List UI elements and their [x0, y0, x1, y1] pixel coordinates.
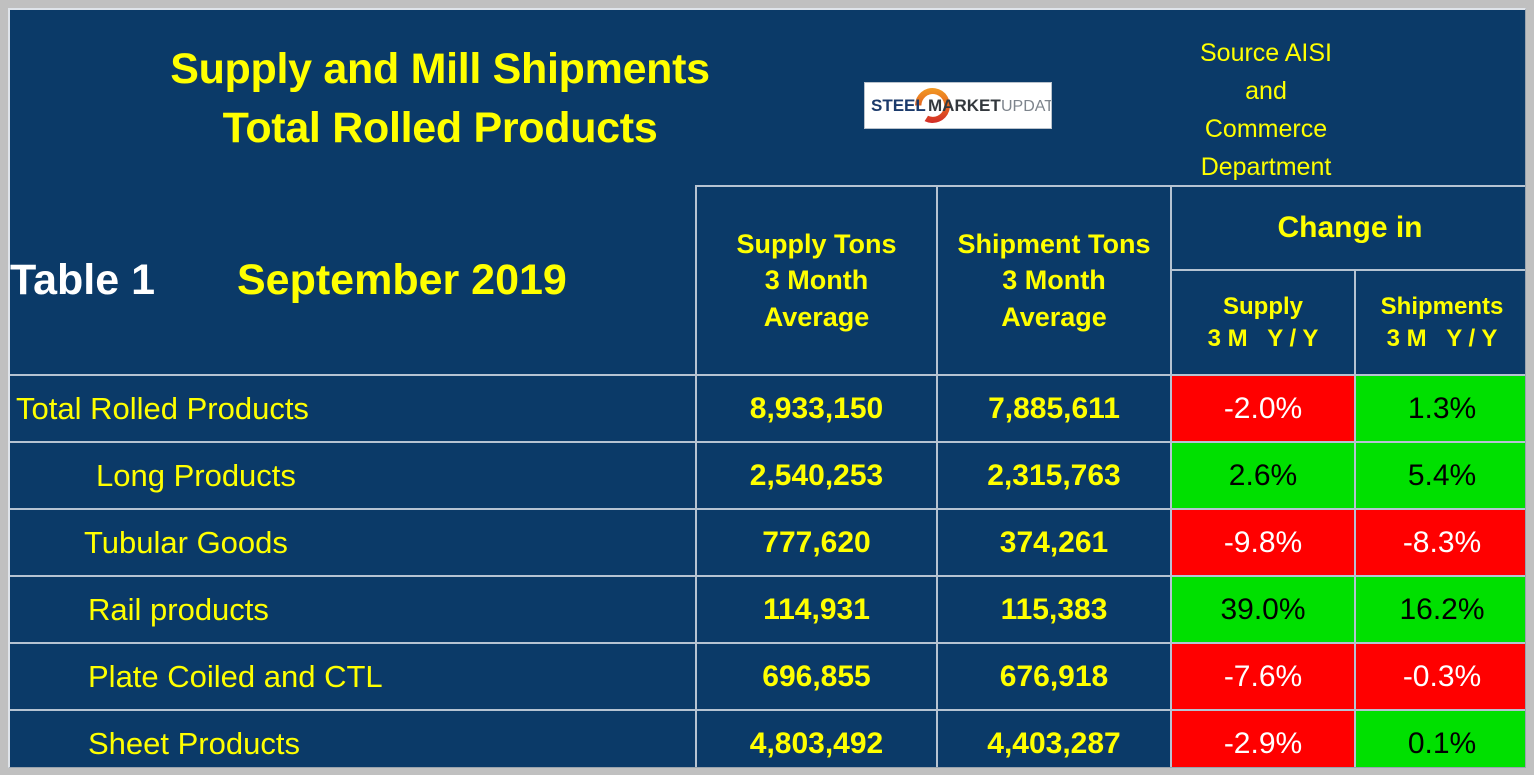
table-row: Long Products2,540,2532,315,7632.6%5.4%	[10, 442, 1526, 509]
cell-supply-tons: 777,620	[696, 509, 937, 576]
table-row: Rail products114,931115,38339.0%16.2%	[10, 576, 1526, 643]
column-header-change-supply: Supply 3 M Y / Y	[1171, 270, 1355, 375]
column-header-supply-tons-line-2: 3 Month	[697, 262, 936, 298]
slide-header-band: Supply and Mill Shipments Total Rolled P…	[10, 10, 1525, 185]
source-note-line-1: Source AISI	[1176, 34, 1356, 72]
logo-word-market: MARKET	[928, 96, 1001, 115]
slide-canvas: Supply and Mill Shipments Total Rolled P…	[8, 8, 1526, 768]
cell-change-shipments: 5.4%	[1355, 442, 1526, 509]
column-header-change-supply-line-2: 3 M Y / Y	[1172, 323, 1354, 354]
cell-change-shipments: 1.3%	[1355, 375, 1526, 442]
cell-shipment-tons: 374,261	[937, 509, 1171, 576]
logo-word-steel: STEEL	[871, 96, 926, 115]
cell-supply-tons: 114,931	[696, 576, 937, 643]
cell-supply-tons: 4,803,492	[696, 710, 937, 768]
cell-change-supply: 39.0%	[1171, 576, 1355, 643]
column-header-shipment-tons-line-1: Shipment Tons	[938, 226, 1170, 262]
column-header-change-shipments-line-1: Shipments	[1356, 291, 1526, 322]
table-row: Plate Coiled and CTL696,855676,918-7.6%-…	[10, 643, 1526, 710]
column-header-change-supply-line-1: Supply	[1172, 291, 1354, 322]
cell-change-shipments: 16.2%	[1355, 576, 1526, 643]
cell-shipment-tons: 115,383	[937, 576, 1171, 643]
steel-market-update-logo: STEEL MARKET UPDATE	[864, 82, 1052, 129]
column-header-change-in-group: Change in	[1171, 186, 1526, 270]
data-table-container: Table 1September 2019 Supply Tons 3 Mont…	[10, 185, 1526, 768]
logo-word-update: UPDATE	[1001, 98, 1051, 115]
column-header-change-shipments-line-2: 3 M Y / Y	[1356, 323, 1526, 354]
column-header-supply-tons: Supply Tons 3 Month Average	[696, 186, 937, 375]
cell-change-supply: -2.9%	[1171, 710, 1355, 768]
column-header-supply-tons-line-1: Supply Tons	[697, 226, 936, 262]
column-header-shipment-tons: Shipment Tons 3 Month Average	[937, 186, 1171, 375]
source-note-line-4: Department	[1176, 148, 1356, 186]
table-header-row-top: Table 1September 2019 Supply Tons 3 Mont…	[10, 186, 1526, 270]
row-label-cell: Rail products	[10, 576, 696, 643]
cell-change-supply: 2.6%	[1171, 442, 1355, 509]
column-header-shipment-tons-line-3: Average	[938, 299, 1170, 335]
supply-and-shipments-table: Table 1September 2019 Supply Tons 3 Mont…	[10, 185, 1526, 768]
cell-shipment-tons: 2,315,763	[937, 442, 1171, 509]
table-caption-cell: Table 1September 2019	[10, 186, 696, 375]
cell-change-shipments: -8.3%	[1355, 509, 1526, 576]
cell-change-supply: -2.0%	[1171, 375, 1355, 442]
column-header-supply-tons-line-3: Average	[697, 299, 936, 335]
source-note: Source AISI and Commerce Department	[1176, 34, 1356, 186]
cell-supply-tons: 2,540,253	[696, 442, 937, 509]
cell-shipment-tons: 7,885,611	[937, 375, 1171, 442]
table-number-label: Table 1	[10, 256, 155, 305]
table-row: Tubular Goods777,620374,261-9.8%-8.3%	[10, 509, 1526, 576]
table-row: Sheet Products4,803,4924,403,287-2.9%0.1…	[10, 710, 1526, 768]
cell-shipment-tons: 4,403,287	[937, 710, 1171, 768]
cell-supply-tons: 8,933,150	[696, 375, 937, 442]
row-label-cell: Sheet Products	[10, 710, 696, 768]
cell-change-shipments: 0.1%	[1355, 710, 1526, 768]
page-title-line-1: Supply and Mill Shipments	[30, 40, 850, 99]
cell-shipment-tons: 676,918	[937, 643, 1171, 710]
column-header-change-shipments: Shipments 3 M Y / Y	[1355, 270, 1526, 375]
page-title-line-2: Total Rolled Products	[30, 99, 850, 158]
column-header-shipment-tons-line-2: 3 Month	[938, 262, 1170, 298]
row-label-cell: Long Products	[10, 442, 696, 509]
source-note-line-2: and	[1176, 72, 1356, 110]
table-row: Total Rolled Products8,933,1507,885,611-…	[10, 375, 1526, 442]
cell-supply-tons: 696,855	[696, 643, 937, 710]
table-period-label: September 2019	[237, 256, 567, 305]
cell-change-shipments: -0.3%	[1355, 643, 1526, 710]
cell-change-supply: -7.6%	[1171, 643, 1355, 710]
page-title: Supply and Mill Shipments Total Rolled P…	[30, 40, 850, 159]
row-label-cell: Plate Coiled and CTL	[10, 643, 696, 710]
row-label-cell: Total Rolled Products	[10, 375, 696, 442]
source-note-line-3: Commerce	[1176, 110, 1356, 148]
row-label-cell: Tubular Goods	[10, 509, 696, 576]
cell-change-supply: -9.8%	[1171, 509, 1355, 576]
